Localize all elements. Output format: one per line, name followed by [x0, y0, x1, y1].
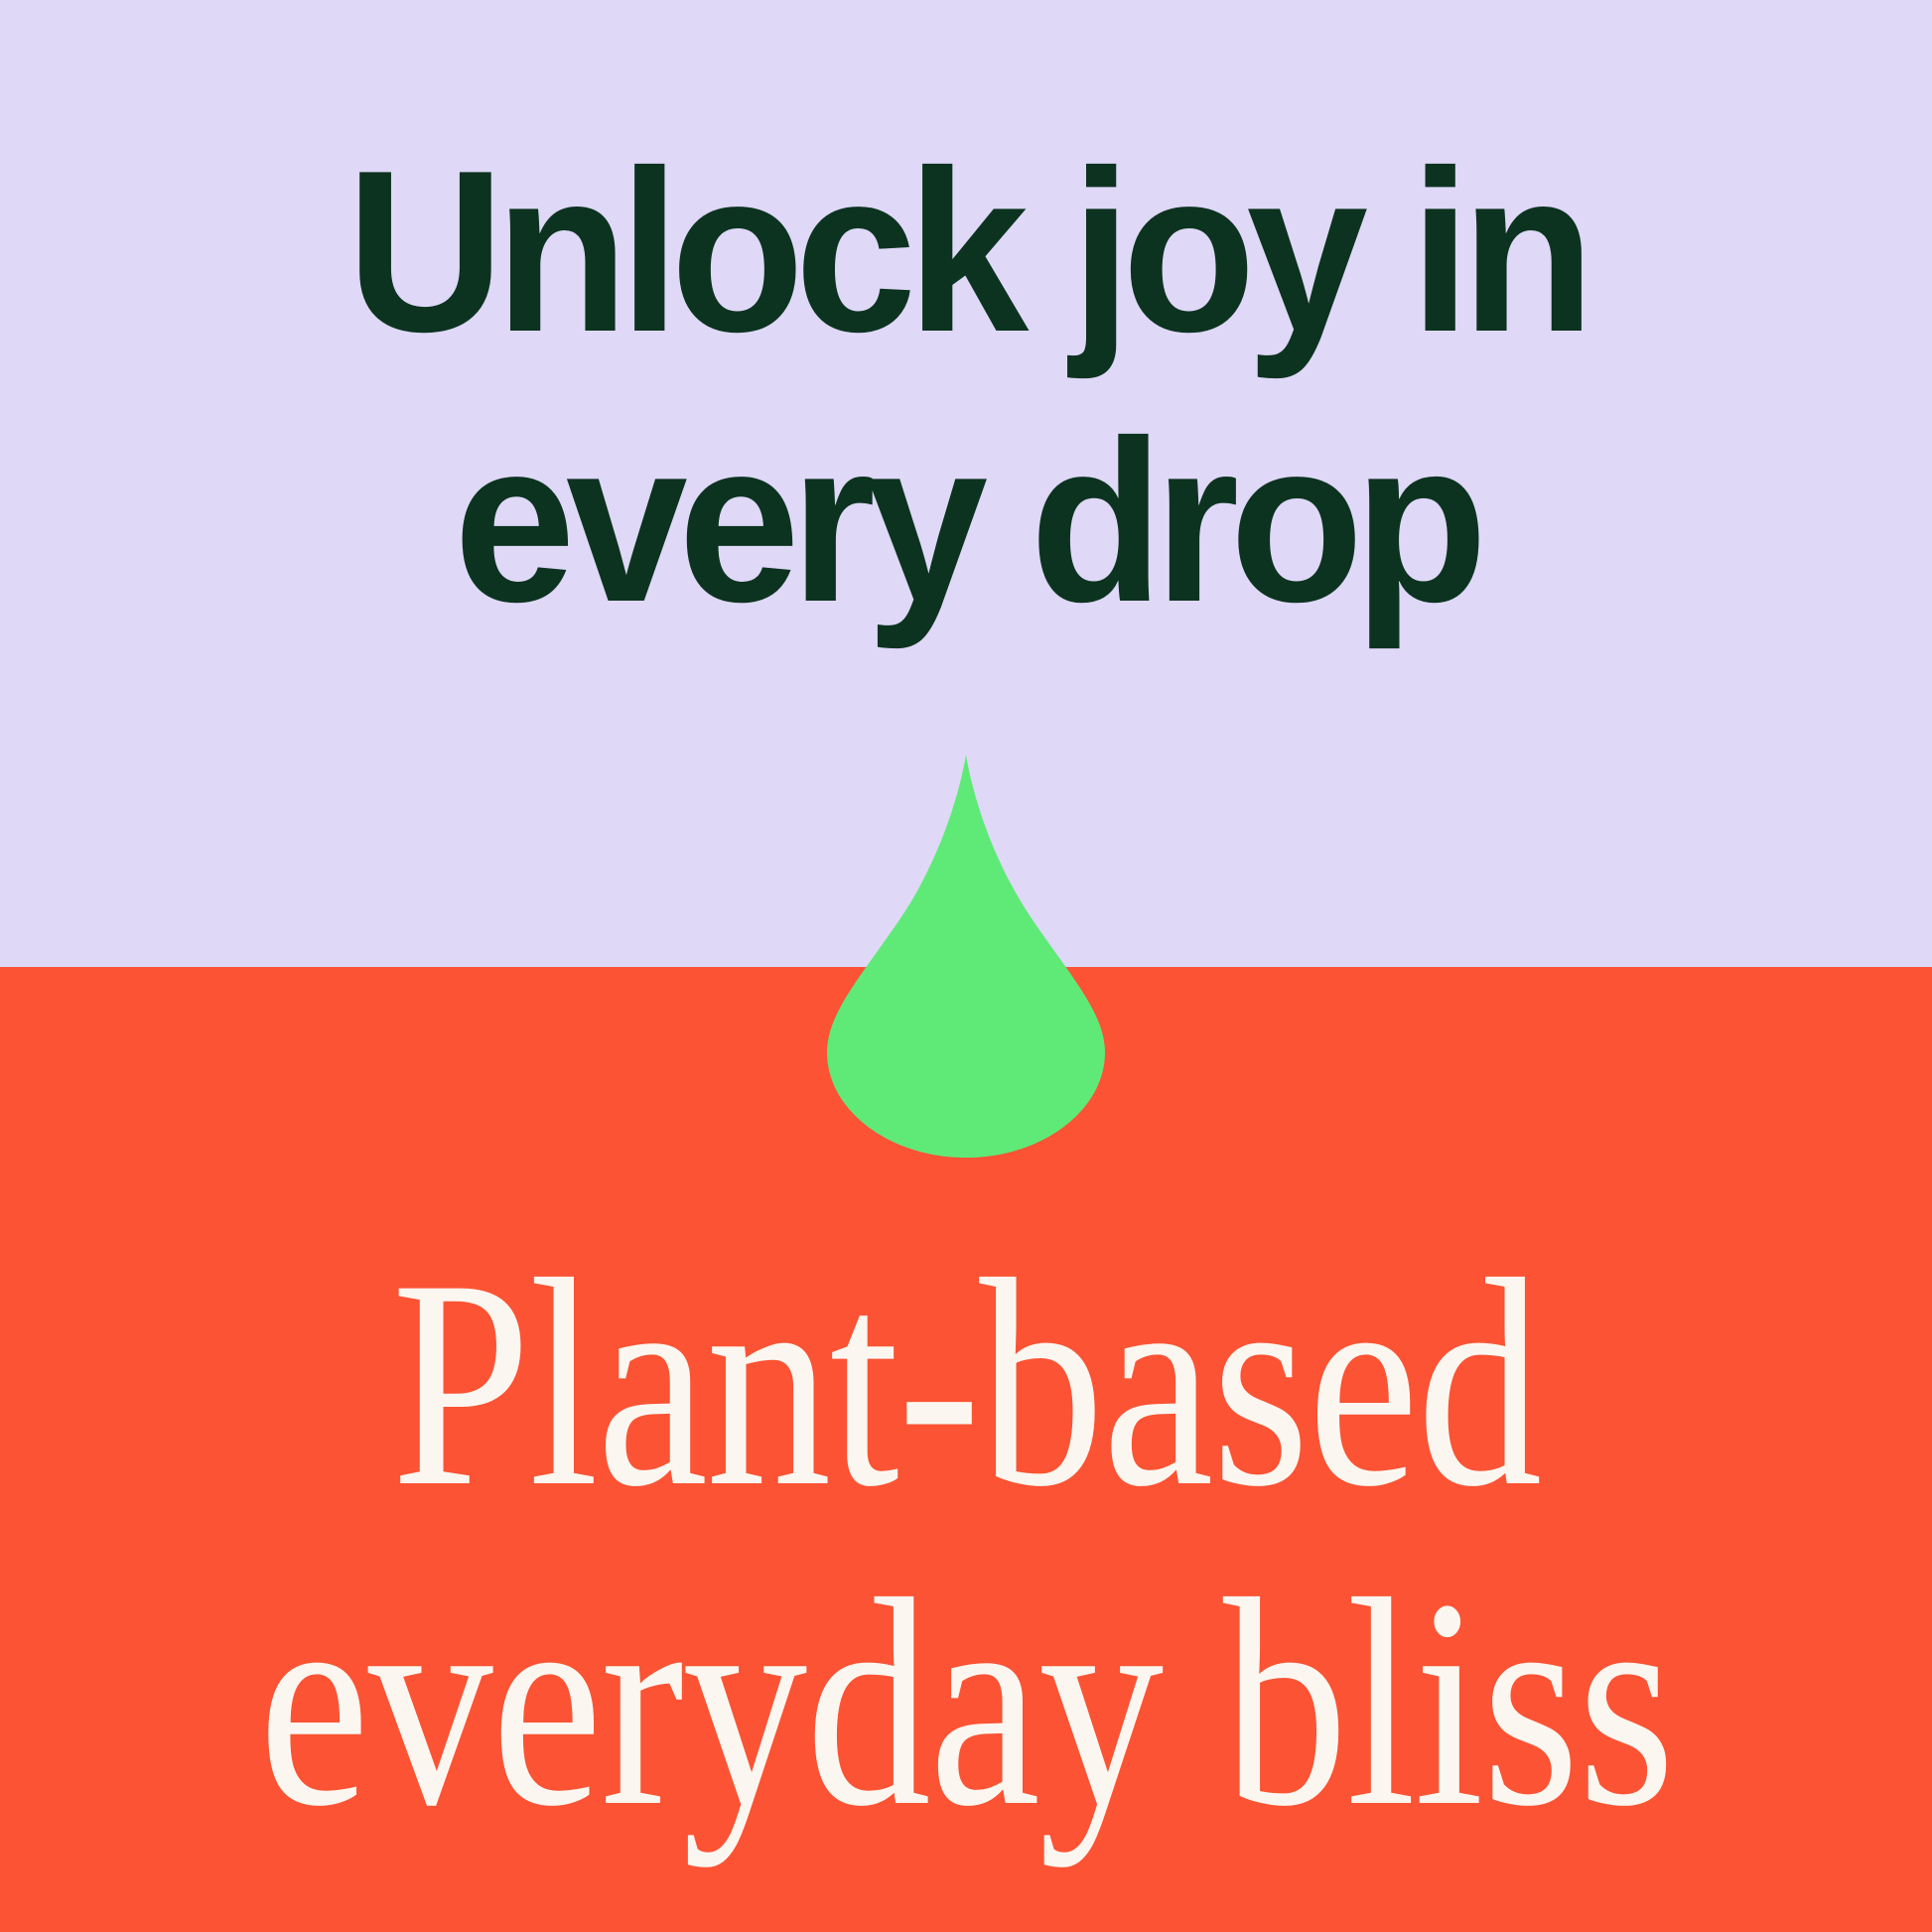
subheadline: Plant-based everyday bliss	[155, 1223, 1778, 1863]
poster-canvas: Unlock joy in every drop Plant-based eve…	[0, 0, 1932, 1932]
headline-line-2: every drop	[49, 387, 1884, 657]
headline: Unlock joy in every drop	[49, 117, 1884, 657]
subheadline-line-2: everyday bliss	[155, 1543, 1778, 1863]
subheadline-line-1: Plant-based	[155, 1223, 1778, 1543]
headline-line-1: Unlock joy in	[49, 117, 1884, 387]
water-drop-icon	[827, 755, 1105, 1158]
